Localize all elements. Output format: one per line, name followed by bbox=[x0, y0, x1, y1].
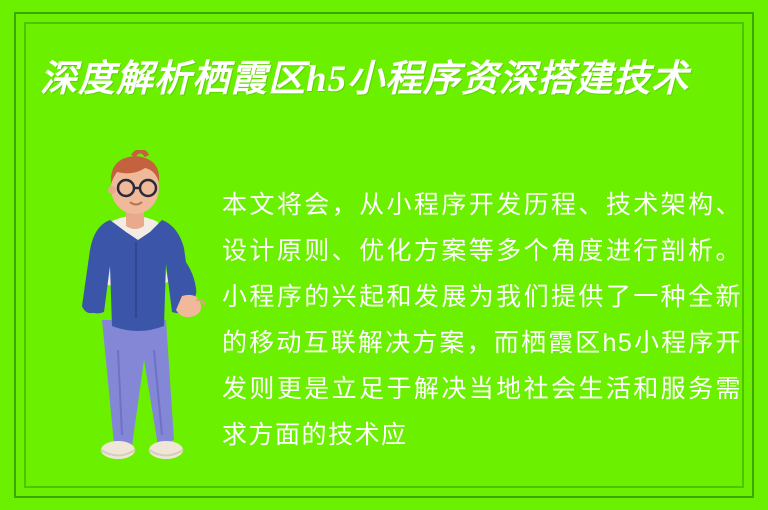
pants-shape bbox=[102, 320, 174, 446]
ear-shape bbox=[108, 186, 116, 194]
body-paragraph: 本文将会，从小程序开发历程、技术架构、设计原则、优化方案等多个角度进行剖析。小程… bbox=[222, 182, 742, 458]
hair-tuft bbox=[133, 151, 147, 156]
page-title: 深度解析栖霞区h5小程序资深搭建技术 bbox=[40, 58, 730, 102]
poster-canvas: 深度解析栖霞区h5小程序资深搭建技术 bbox=[0, 0, 768, 510]
person-illustration bbox=[62, 150, 212, 490]
